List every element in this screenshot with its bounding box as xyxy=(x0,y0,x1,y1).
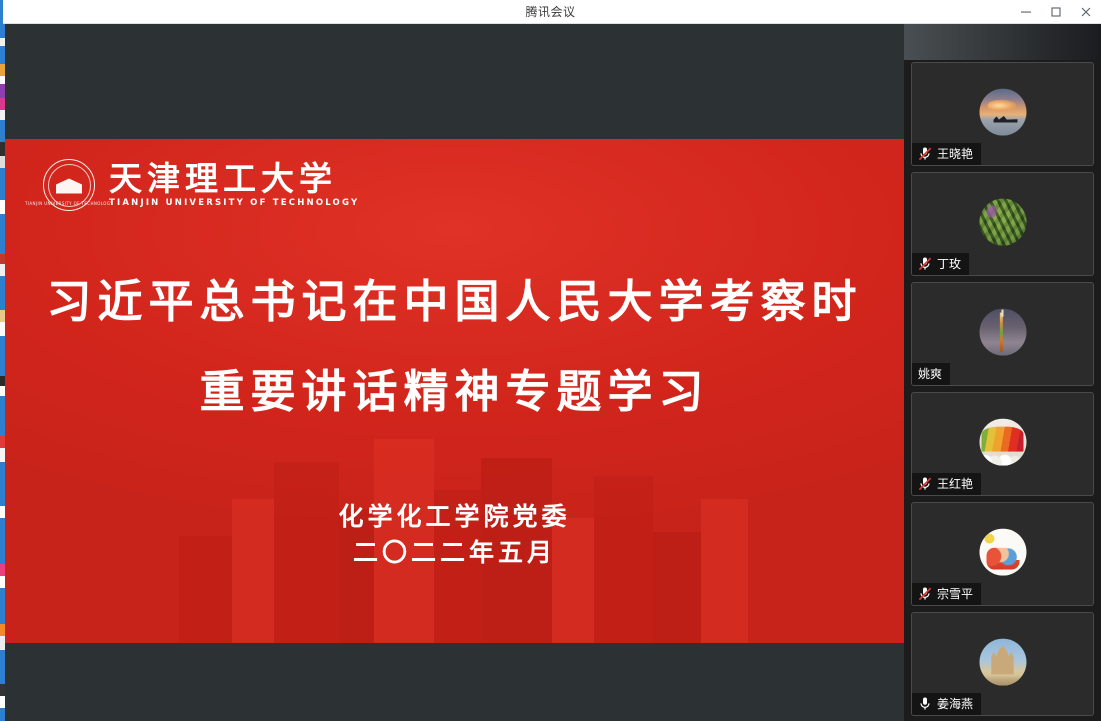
avatar-image-colored-leaves xyxy=(979,419,1026,466)
university-logo: TIANJIN UNIVERSITY OF TECHNOLOGY 天津理工大学 … xyxy=(43,159,359,211)
participant-tile[interactable]: 丁玫 xyxy=(911,172,1094,276)
slide-subtitle-line-2: 二〇二二年五月 xyxy=(5,535,904,571)
avatar-image-green-plant xyxy=(979,199,1026,246)
participant-tile[interactable]: 王红艳 xyxy=(911,392,1094,496)
participant-name: 丁玫 xyxy=(937,253,961,275)
presentation-slide: TIANJIN UNIVERSITY OF TECHNOLOGY 天津理工大学 … xyxy=(5,139,904,643)
participant-tile-list[interactable]: 王晓艳 丁玫 xyxy=(904,62,1101,721)
avatar xyxy=(979,89,1026,136)
participant-name: 宗雪平 xyxy=(937,583,973,605)
participant-tile[interactable]: 姚爽 xyxy=(911,282,1094,386)
participant-name: 王红艳 xyxy=(937,473,973,495)
logo-text-block: 天津理工大学 TIANJIN UNIVERSITY OF TECHNOLOGY xyxy=(109,162,359,208)
avatar xyxy=(979,309,1026,356)
avatar xyxy=(979,199,1026,246)
participant-name: 王晓艳 xyxy=(937,143,973,165)
window-title: 腾讯会议 xyxy=(0,0,1101,24)
slide-subtitle: 化学化工学院党委 二〇二二年五月 xyxy=(5,499,904,570)
participant-name: 姚爽 xyxy=(918,363,942,385)
avatar-image-family-cartoon xyxy=(979,529,1026,576)
avatar xyxy=(979,529,1026,576)
university-name-cn: 天津理工大学 xyxy=(109,162,359,197)
mic-muted-icon xyxy=(918,146,932,162)
sidebar-header-strip xyxy=(904,24,1101,60)
participant-tile[interactable]: 姜海燕 xyxy=(911,612,1094,716)
slide-title: 习近平总书记在中国人民大学考察时 重要讲话精神专题学习 xyxy=(5,279,904,414)
participant-nameplate: 姚爽 xyxy=(912,363,950,385)
slide-title-line-1: 习近平总书记在中国人民大学考察时 xyxy=(5,279,904,324)
avatar-image-tower xyxy=(979,309,1026,356)
avatar-image-castle xyxy=(979,639,1026,686)
avatar xyxy=(979,639,1026,686)
university-name-en: TIANJIN UNIVERSITY OF TECHNOLOGY xyxy=(109,199,359,208)
minimize-button[interactable] xyxy=(1011,0,1041,24)
avatar-image-sunset xyxy=(979,89,1026,136)
participant-nameplate: 王晓艳 xyxy=(912,143,981,165)
maximize-button[interactable] xyxy=(1041,0,1071,24)
seal-arc-text: TIANJIN UNIVERSITY OF TECHNOLOGY xyxy=(25,201,113,206)
participant-tile[interactable]: 宗雪平 xyxy=(911,502,1094,606)
participant-nameplate: 王红艳 xyxy=(912,473,981,495)
participant-nameplate: 宗雪平 xyxy=(912,583,981,605)
participant-sidebar[interactable]: 王晓艳 丁玫 xyxy=(904,24,1101,721)
participant-name: 姜海燕 xyxy=(937,693,973,715)
avatar xyxy=(979,419,1026,466)
shared-screen-stage[interactable]: TIANJIN UNIVERSITY OF TECHNOLOGY 天津理工大学 … xyxy=(5,24,904,721)
slide-title-line-2: 重要讲话精神专题学习 xyxy=(5,369,904,414)
participant-nameplate: 丁玫 xyxy=(912,253,969,275)
mic-muted-icon xyxy=(918,256,932,272)
participant-nameplate: 姜海燕 xyxy=(912,693,981,715)
mic-muted-icon xyxy=(918,586,932,602)
tencent-meeting-window: 腾讯会议 xyxy=(0,0,1101,721)
slide-subtitle-line-1: 化学化工学院党委 xyxy=(5,499,904,535)
university-seal-icon: TIANJIN UNIVERSITY OF TECHNOLOGY xyxy=(43,159,95,211)
mic-muted-icon xyxy=(918,476,932,492)
close-button[interactable] xyxy=(1071,0,1101,24)
mic-unmuted-icon xyxy=(918,696,932,712)
window-controls xyxy=(1011,0,1101,24)
title-bar[interactable]: 腾讯会议 xyxy=(0,0,1101,24)
seal-building-shape xyxy=(56,179,82,194)
participant-tile[interactable]: 王晓艳 xyxy=(911,62,1094,166)
